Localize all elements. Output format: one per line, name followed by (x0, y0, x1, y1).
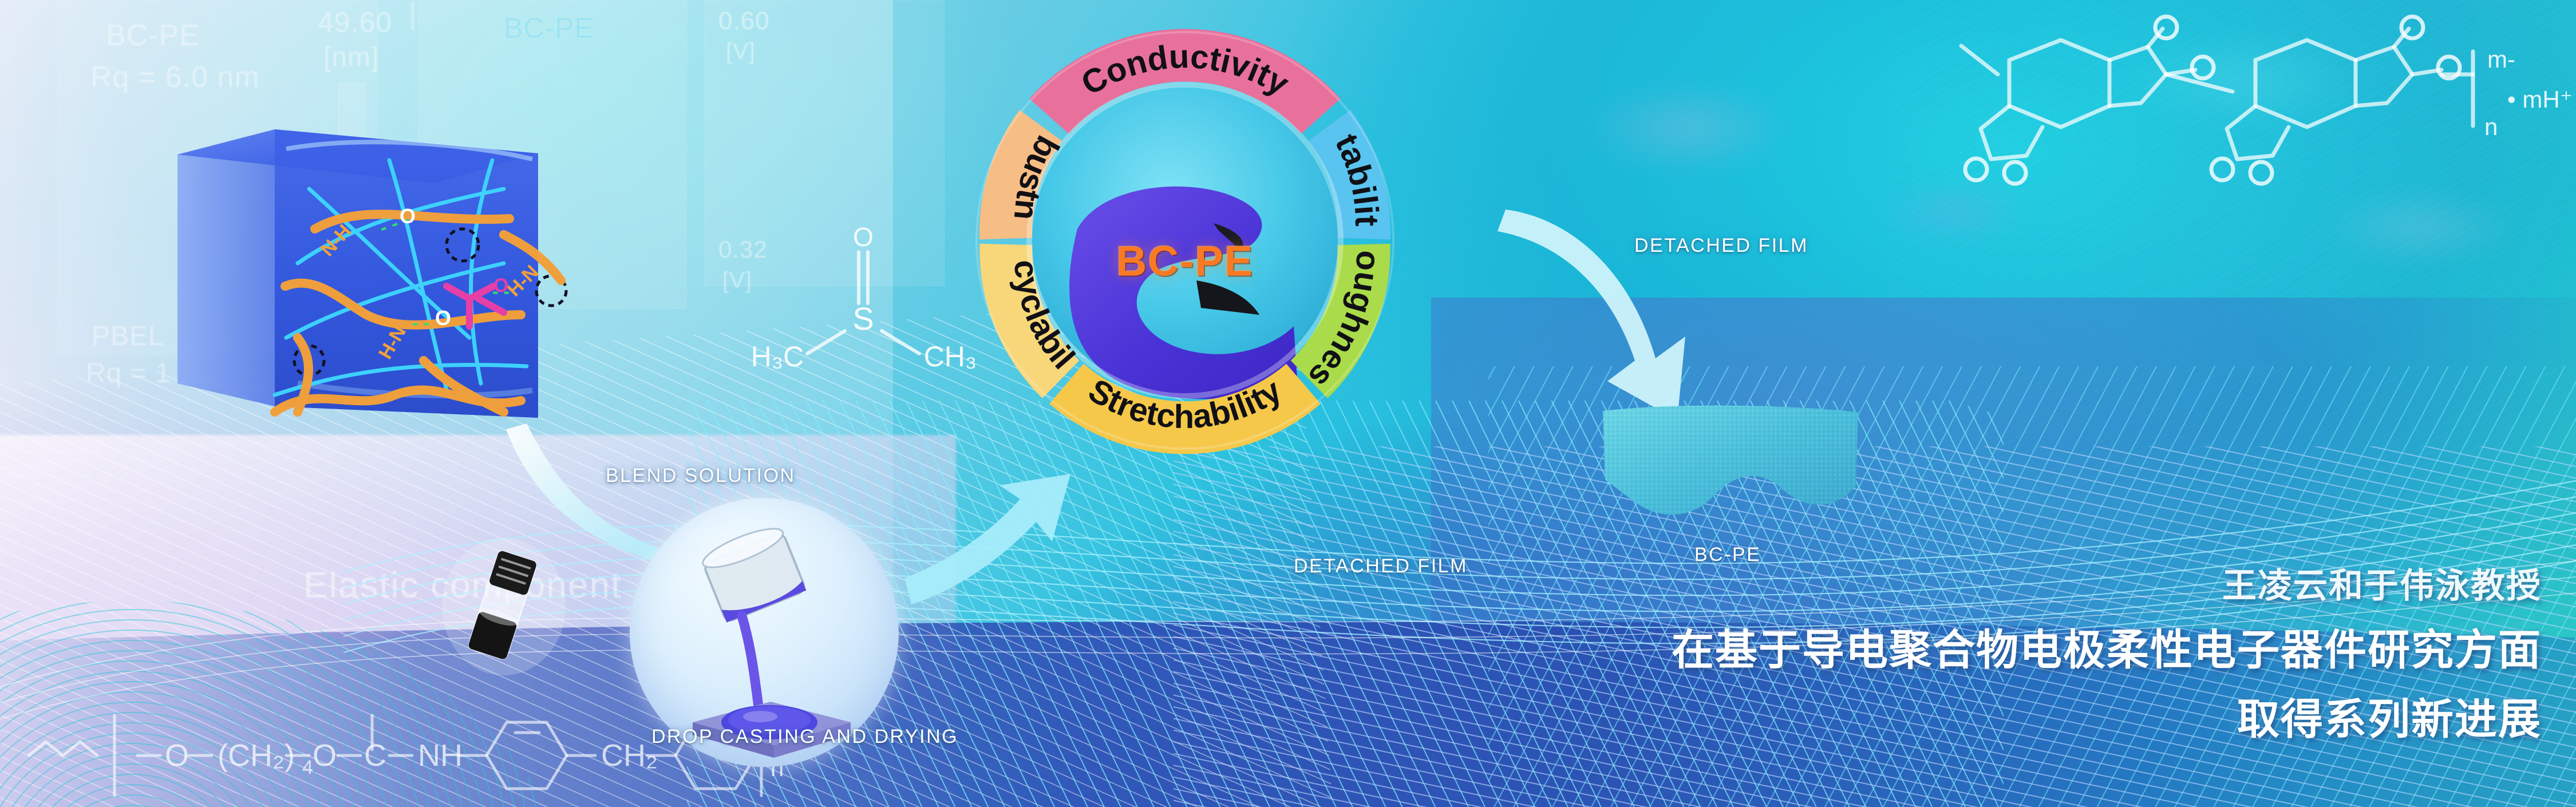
svg-text:S: S (852, 300, 874, 337)
svg-text:(CH₂): (CH₂) (218, 738, 295, 773)
headline-line-3: 取得系列新进展 (1534, 685, 2542, 746)
svg-text:O: O (435, 306, 451, 330)
svg-text:- -: - - (412, 312, 429, 333)
plot-axis-top-value: 0.60 (718, 7, 770, 35)
svg-text:C: C (364, 738, 386, 773)
headline-line-1: 王凌云和于伟泳教授 (1534, 558, 2542, 608)
svg-text:H₃C: H₃C (751, 341, 804, 373)
headline-line-2: 在基于导电聚合物电极柔性电子器件研究方面 (1534, 616, 2542, 677)
svg-text:O: O (165, 738, 189, 773)
detached-film-label-bottom: DETACHED FILM (1294, 555, 1468, 577)
polymer-structure-top-right: m- • mH⁺ n (1935, 6, 2559, 183)
banner-canvas: BC-PE Rq = 6.0 nm 49.60 [nm] PBEL Rq = 1… (0, 0, 2576, 807)
polymer-counter-ion: • mH⁺ (2507, 86, 2573, 113)
headline-block: 王凌云和于伟泳教授 在基于导电聚合物电极柔性电子器件研究方面 取得系列新进展 (1534, 558, 2542, 746)
detached-film-arrow (1488, 189, 1729, 429)
svg-text:O: O (400, 204, 416, 228)
svg-text:CH₂: CH₂ (601, 738, 658, 773)
plot-axis-top-unit: [V] (726, 39, 756, 65)
svg-text:O: O (313, 738, 337, 773)
properties-wheel: Conductivity Stability Toughness Stretch… (927, 0, 1443, 498)
svg-text:NH: NH (418, 738, 463, 773)
detached-film-sheet (1591, 401, 1872, 532)
svg-text:4: 4 (302, 757, 313, 778)
polymer-sub-n: n (2484, 113, 2498, 140)
polymer-sub-m: m- (2487, 46, 2515, 73)
blend-solution-label: BLEND SOLUTION (606, 465, 796, 487)
hydrogel-cube-illustration: N-H - - - O H-N - - O H-N - - O (69, 17, 584, 475)
drop-casting-label: DROP CASTING AND DRYING (651, 726, 958, 748)
svg-text:O: O (493, 275, 508, 296)
svg-text:O: O (853, 222, 874, 252)
detached-film-label-top: DETACHED FILM (1634, 235, 1808, 257)
wheel-center-label: BC-PE (1116, 237, 1254, 286)
